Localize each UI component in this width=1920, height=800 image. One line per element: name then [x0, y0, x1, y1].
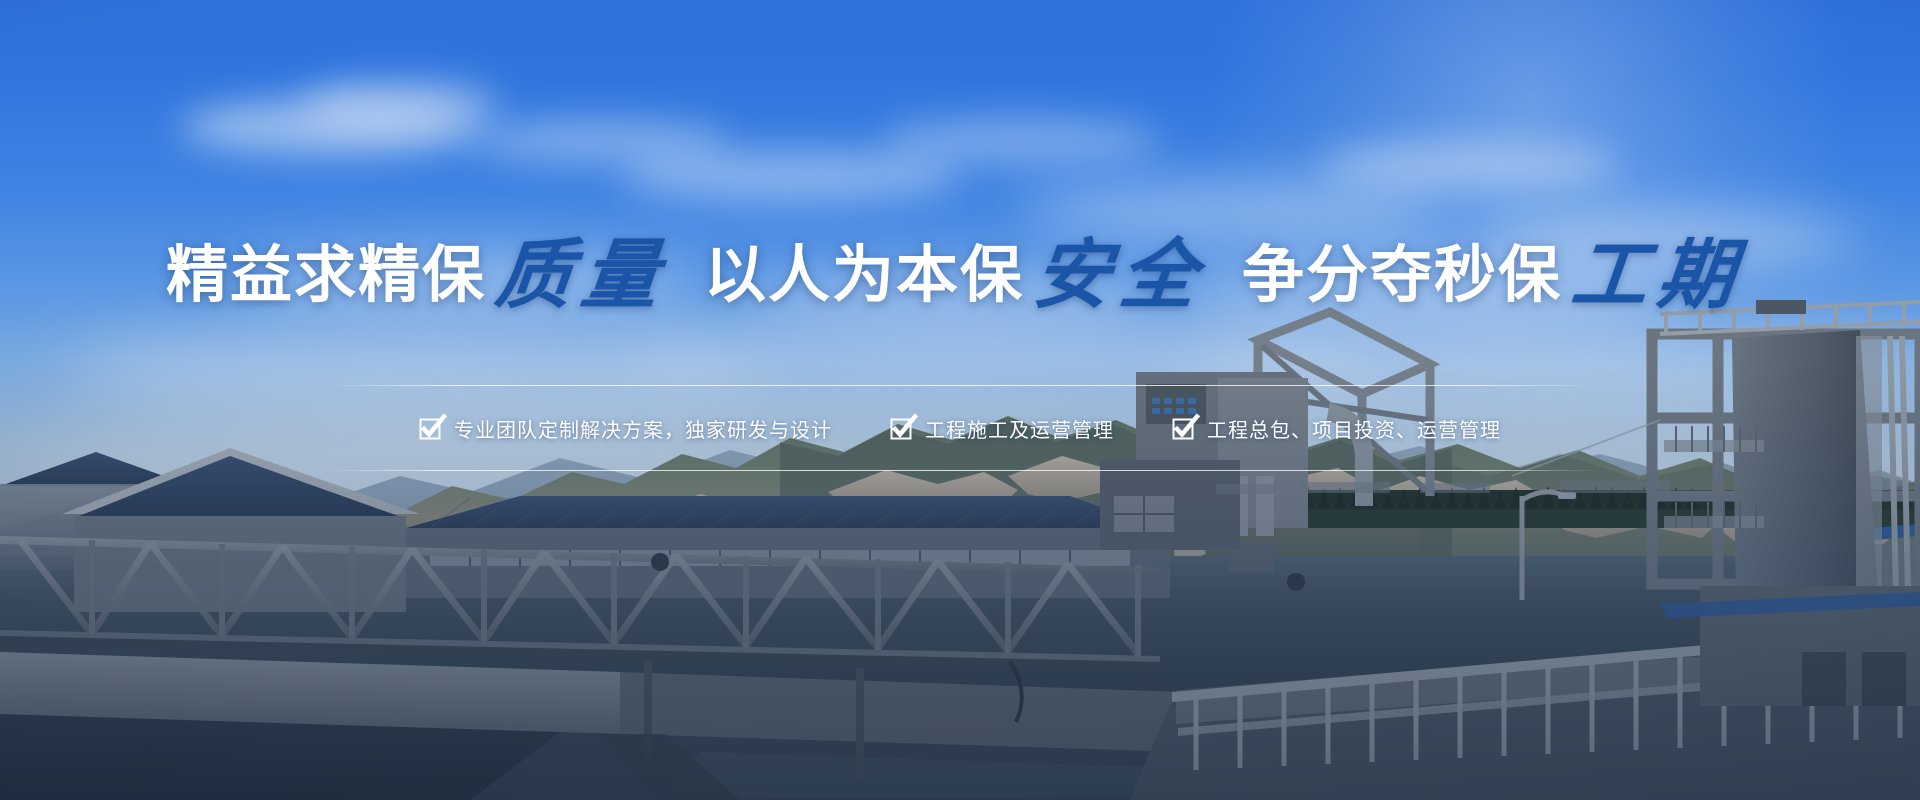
feature-label-3: 工程总包、项目投资、运营管理 — [1207, 414, 1501, 443]
headline-accent-schedule: 工期 — [1558, 238, 1758, 314]
banner-copy: 精益求精保质量以人为本保安全争分夺秒保工期 专业团队定制解决方案，独家研发与设计 — [0, 0, 1920, 800]
feature-label-2: 工程施工及运营管理 — [925, 414, 1114, 443]
feature-list: 专业团队定制解决方案，独家研发与设计 工程施工及运营管理 — [322, 398, 1598, 458]
headline-segment-2: 以人为本保 — [704, 241, 1024, 310]
feature-item-2[interactable]: 工程施工及运营管理 — [890, 414, 1114, 443]
checkbox-checked-icon — [419, 418, 440, 439]
feature-item-3[interactable]: 工程总包、项目投资、运营管理 — [1172, 414, 1501, 443]
hero-banner: 精益求精保质量以人为本保安全争分夺秒保工期 专业团队定制解决方案，独家研发与设计 — [0, 0, 1920, 800]
divider-bottom — [322, 470, 1598, 471]
divider-top — [322, 385, 1598, 386]
checkbox-checked-icon — [1172, 418, 1193, 439]
feature-label-1: 专业团队定制解决方案，独家研发与设计 — [454, 414, 832, 443]
headline-segment-3: 争分夺秒保 — [1242, 241, 1562, 310]
feature-item-1[interactable]: 专业团队定制解决方案，独家研发与设计 — [419, 414, 832, 443]
headline-accent-safety: 安全 — [1020, 238, 1220, 314]
headline-segment-1: 精益求精保 — [166, 241, 486, 310]
headline-accent-quality: 质量 — [482, 238, 682, 314]
banner-headline: 精益求精保质量以人为本保安全争分夺秒保工期 — [0, 238, 1920, 314]
checkbox-checked-icon — [890, 418, 911, 439]
